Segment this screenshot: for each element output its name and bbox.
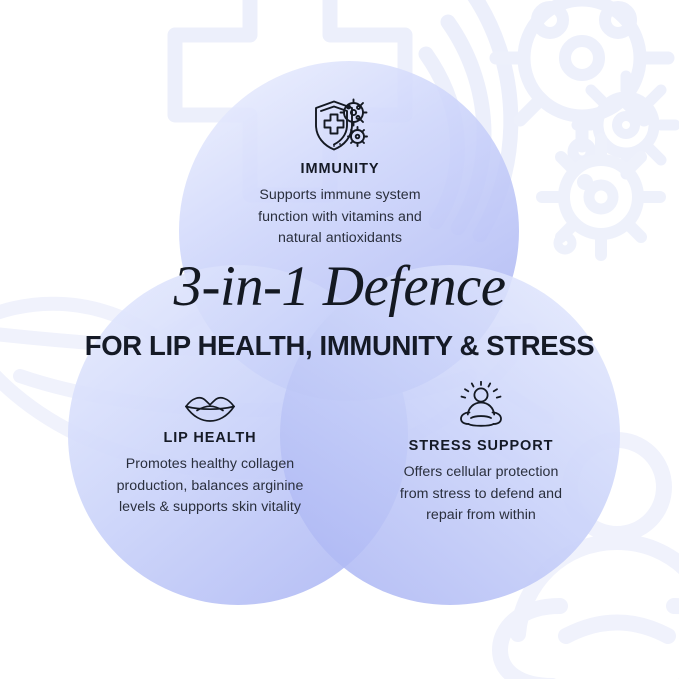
shield-germ-icon	[309, 98, 371, 154]
headline-block: 3-in-1 Defence FOR LIP HEALTH, IMMUNITY …	[0, 258, 679, 360]
lobe-lip-health: LIP HEALTH Promotes healthy collagen pro…	[96, 393, 324, 519]
lobe-immunity-desc-line: function with vitamins and	[232, 207, 448, 229]
lobe-stress-support-desc-line: Offers cellular protection	[368, 462, 594, 484]
lobe-stress-support-desc-line: repair from within	[368, 505, 594, 527]
infographic-canvas: IMMUNITY Supports immune system function…	[0, 0, 679, 679]
page-title: 3-in-1 Defence	[0, 258, 679, 315]
lobe-stress-support-description: Offers cellular protection from stress t…	[368, 462, 594, 527]
lobe-immunity: IMMUNITY Supports immune system function…	[232, 98, 448, 250]
lobe-lip-health-desc-line: levels & supports skin vitality	[96, 497, 324, 519]
lobe-immunity-title: IMMUNITY	[232, 161, 448, 177]
page-subtitle: FOR LIP HEALTH, IMMUNITY & STRESS	[0, 332, 679, 360]
lips-icon	[184, 393, 236, 423]
lobe-immunity-description: Supports immune system function with vit…	[232, 185, 448, 250]
lobe-lip-health-description: Promotes healthy collagen production, ba…	[96, 454, 324, 519]
lobe-stress-support-title: STRESS SUPPORT	[368, 438, 594, 454]
lobe-stress-support: STRESS SUPPORT Offers cellular protectio…	[368, 381, 594, 527]
lobe-immunity-desc-line: natural antioxidants	[232, 228, 448, 250]
meditation-icon	[452, 381, 510, 431]
lobe-lip-health-desc-line: Promotes healthy collagen	[96, 454, 324, 476]
lobe-stress-support-desc-line: from stress to defend and	[368, 484, 594, 506]
content-layer: IMMUNITY Supports immune system function…	[0, 0, 679, 679]
lobe-lip-health-title: LIP HEALTH	[96, 430, 324, 446]
lobe-immunity-desc-line: Supports immune system	[232, 185, 448, 207]
lobe-lip-health-desc-line: production, balances arginine	[96, 476, 324, 498]
